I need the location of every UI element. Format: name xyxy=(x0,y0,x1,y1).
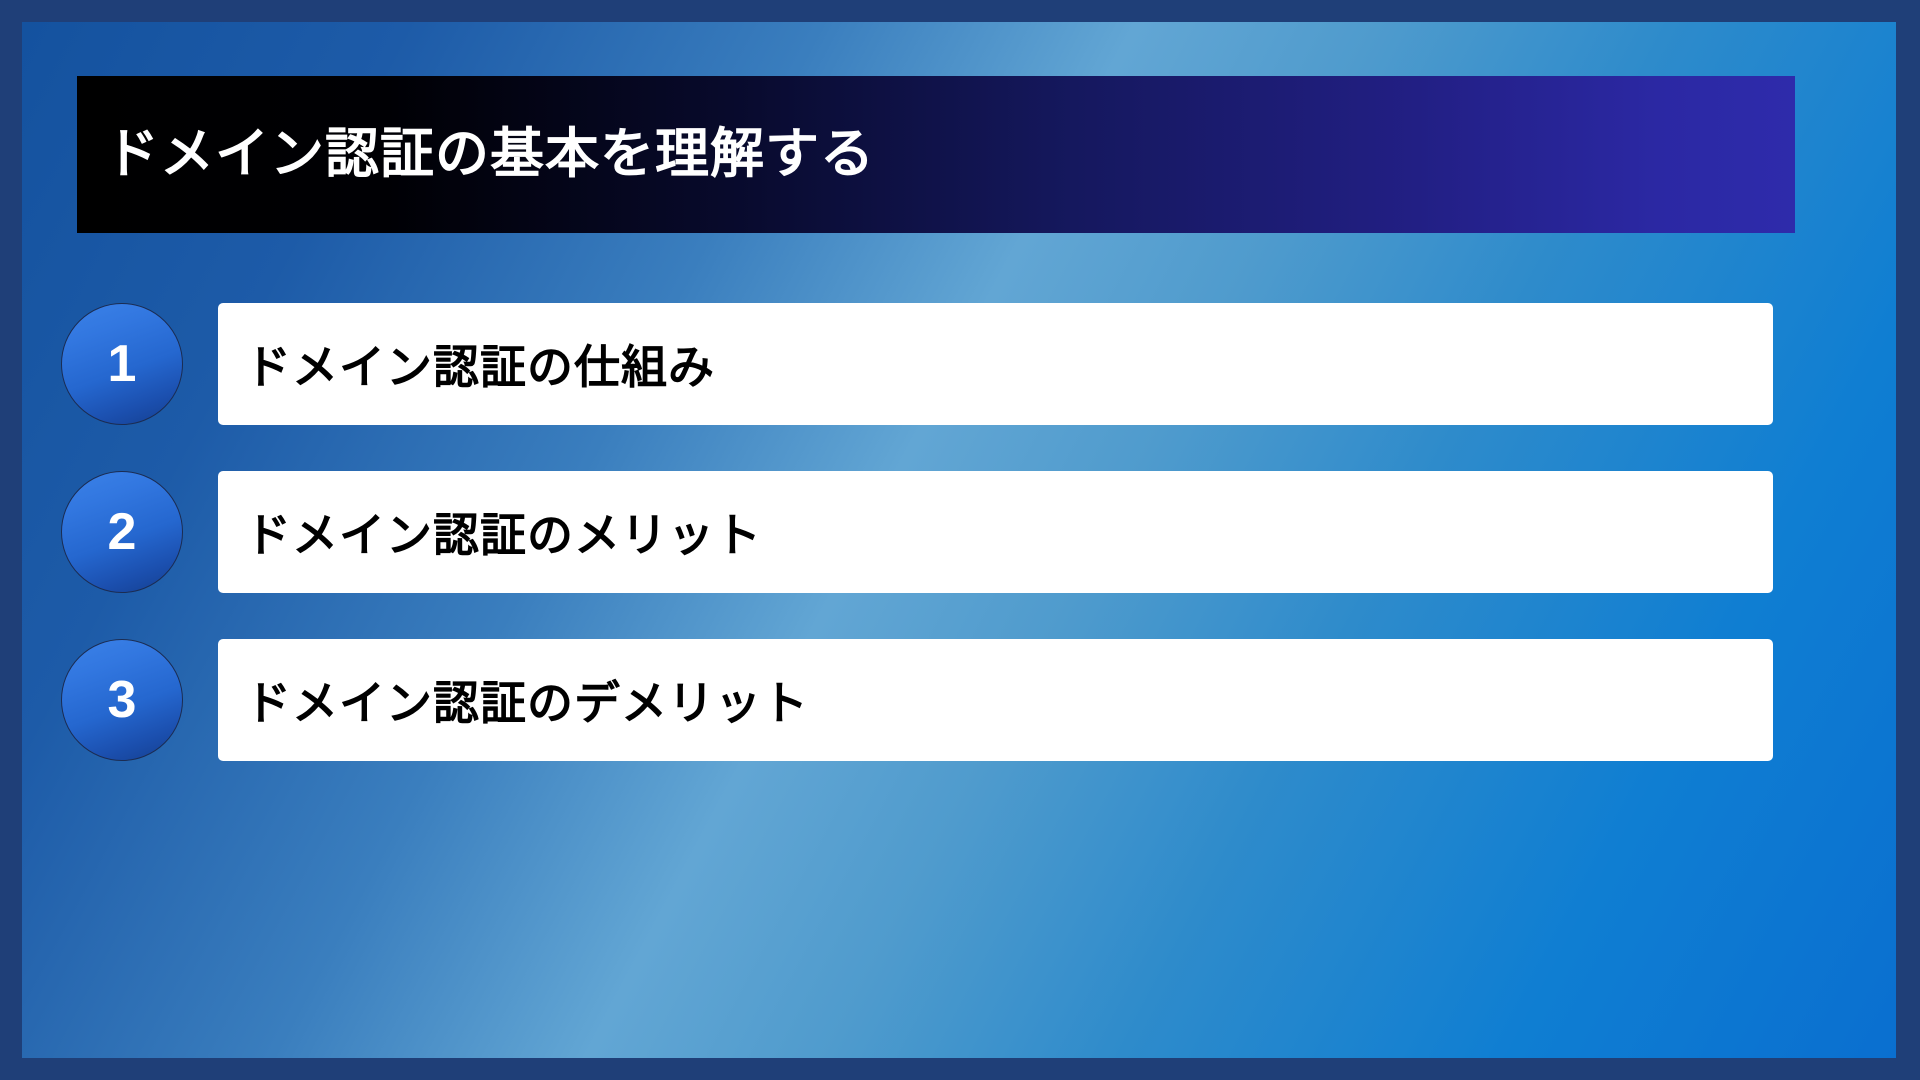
item-card-3[interactable]: ドメイン認証のデメリット xyxy=(218,639,1773,761)
item-title-label: ドメイン認証のデメリット xyxy=(245,667,809,733)
item-title-label: ドメイン認証のメリット xyxy=(245,499,762,565)
title-banner: ドメイン認証の基本を理解する xyxy=(77,76,1795,233)
item-card-2[interactable]: ドメイン認証のメリット xyxy=(218,471,1773,593)
item-number-badge-2: 2 xyxy=(61,471,183,593)
page-title: ドメイン認証の基本を理解する xyxy=(105,125,875,184)
item-number-label: 3 xyxy=(108,674,137,726)
item-number-label: 2 xyxy=(108,506,137,558)
item-number-label: 1 xyxy=(108,338,137,390)
slide-frame: ドメイン認証の基本を理解する 1 ドメイン認証の仕組み 2 ドメイン認証のメリッ… xyxy=(0,0,1920,1080)
item-number-badge-1: 1 xyxy=(61,303,183,425)
agenda-list: 1 ドメイン認証の仕組み 2 ドメイン認証のメリット 3 ド xyxy=(22,303,1896,807)
list-item[interactable]: 2 ドメイン認証のメリット xyxy=(22,471,1896,593)
item-title-label: ドメイン認証の仕組み xyxy=(245,331,715,397)
slide-canvas: ドメイン認証の基本を理解する 1 ドメイン認証の仕組み 2 ドメイン認証のメリッ… xyxy=(22,22,1896,1058)
item-card-1[interactable]: ドメイン認証の仕組み xyxy=(218,303,1773,425)
list-item[interactable]: 3 ドメイン認証のデメリット xyxy=(22,639,1896,761)
item-number-badge-3: 3 xyxy=(61,639,183,761)
list-item[interactable]: 1 ドメイン認証の仕組み xyxy=(22,303,1896,425)
